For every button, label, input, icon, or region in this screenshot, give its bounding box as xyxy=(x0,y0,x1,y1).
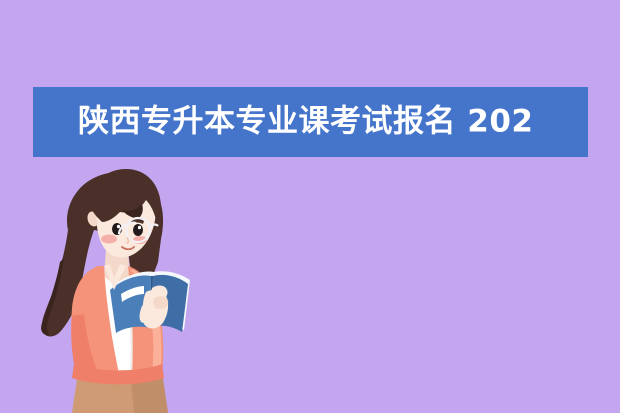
title-banner: 陕西专升本专业课考试报名 202 xyxy=(33,87,588,157)
banner-title-text: 陕西专升本专业课考试报名 202 xyxy=(78,107,534,138)
blush-left-shape xyxy=(101,235,117,244)
woman-reading-book-illustration xyxy=(34,166,204,413)
glasses-temple-shape xyxy=(150,225,158,227)
eye-right-shape xyxy=(133,224,143,236)
banner-image: 陕西专升本专业课考试报名 202 xyxy=(0,0,620,413)
eye-left-highlight xyxy=(117,225,120,229)
eye-right-highlight xyxy=(138,226,141,230)
